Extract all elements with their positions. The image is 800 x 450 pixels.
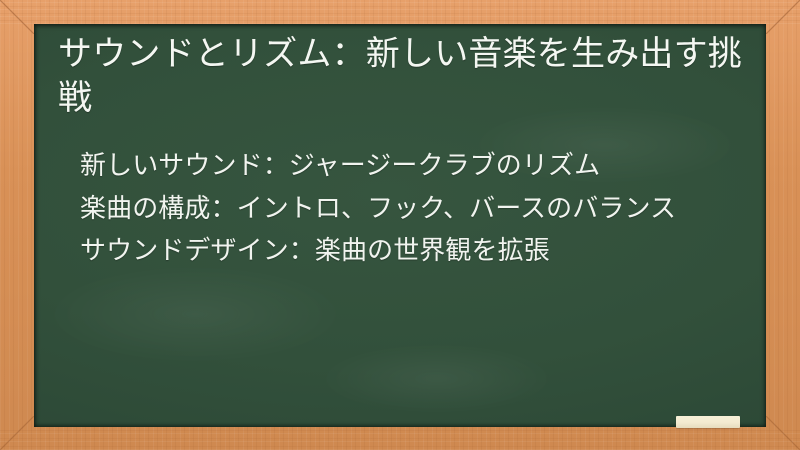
bullet-item: 新しいサウンド：ジャージークラブのリズム [58, 146, 742, 184]
frame-bottom-ledge-grain [0, 426, 800, 450]
slide-title: サウンドとリズム：新しい音楽を生み出す挑戦 [58, 32, 742, 120]
slide-content: サウンドとリズム：新しい音楽を生み出す挑戦 新しいサウンド：ジャージークラブのリ… [34, 24, 766, 427]
chalkboard-slide: サウンドとリズム：新しい音楽を生み出す挑戦 新しいサウンド：ジャージークラブのリ… [0, 0, 800, 450]
bullet-item: サウンドデザイン：楽曲の世界観を拡張 [58, 231, 742, 269]
bullet-list: 新しいサウンド：ジャージークラブのリズム 楽曲の構成：イントロ、フック、バースの… [58, 146, 742, 269]
chalk-stick [676, 416, 740, 428]
frame-top-grain [0, 0, 800, 24]
bullet-item: 楽曲の構成：イントロ、フック、バースのバランス [58, 189, 742, 227]
